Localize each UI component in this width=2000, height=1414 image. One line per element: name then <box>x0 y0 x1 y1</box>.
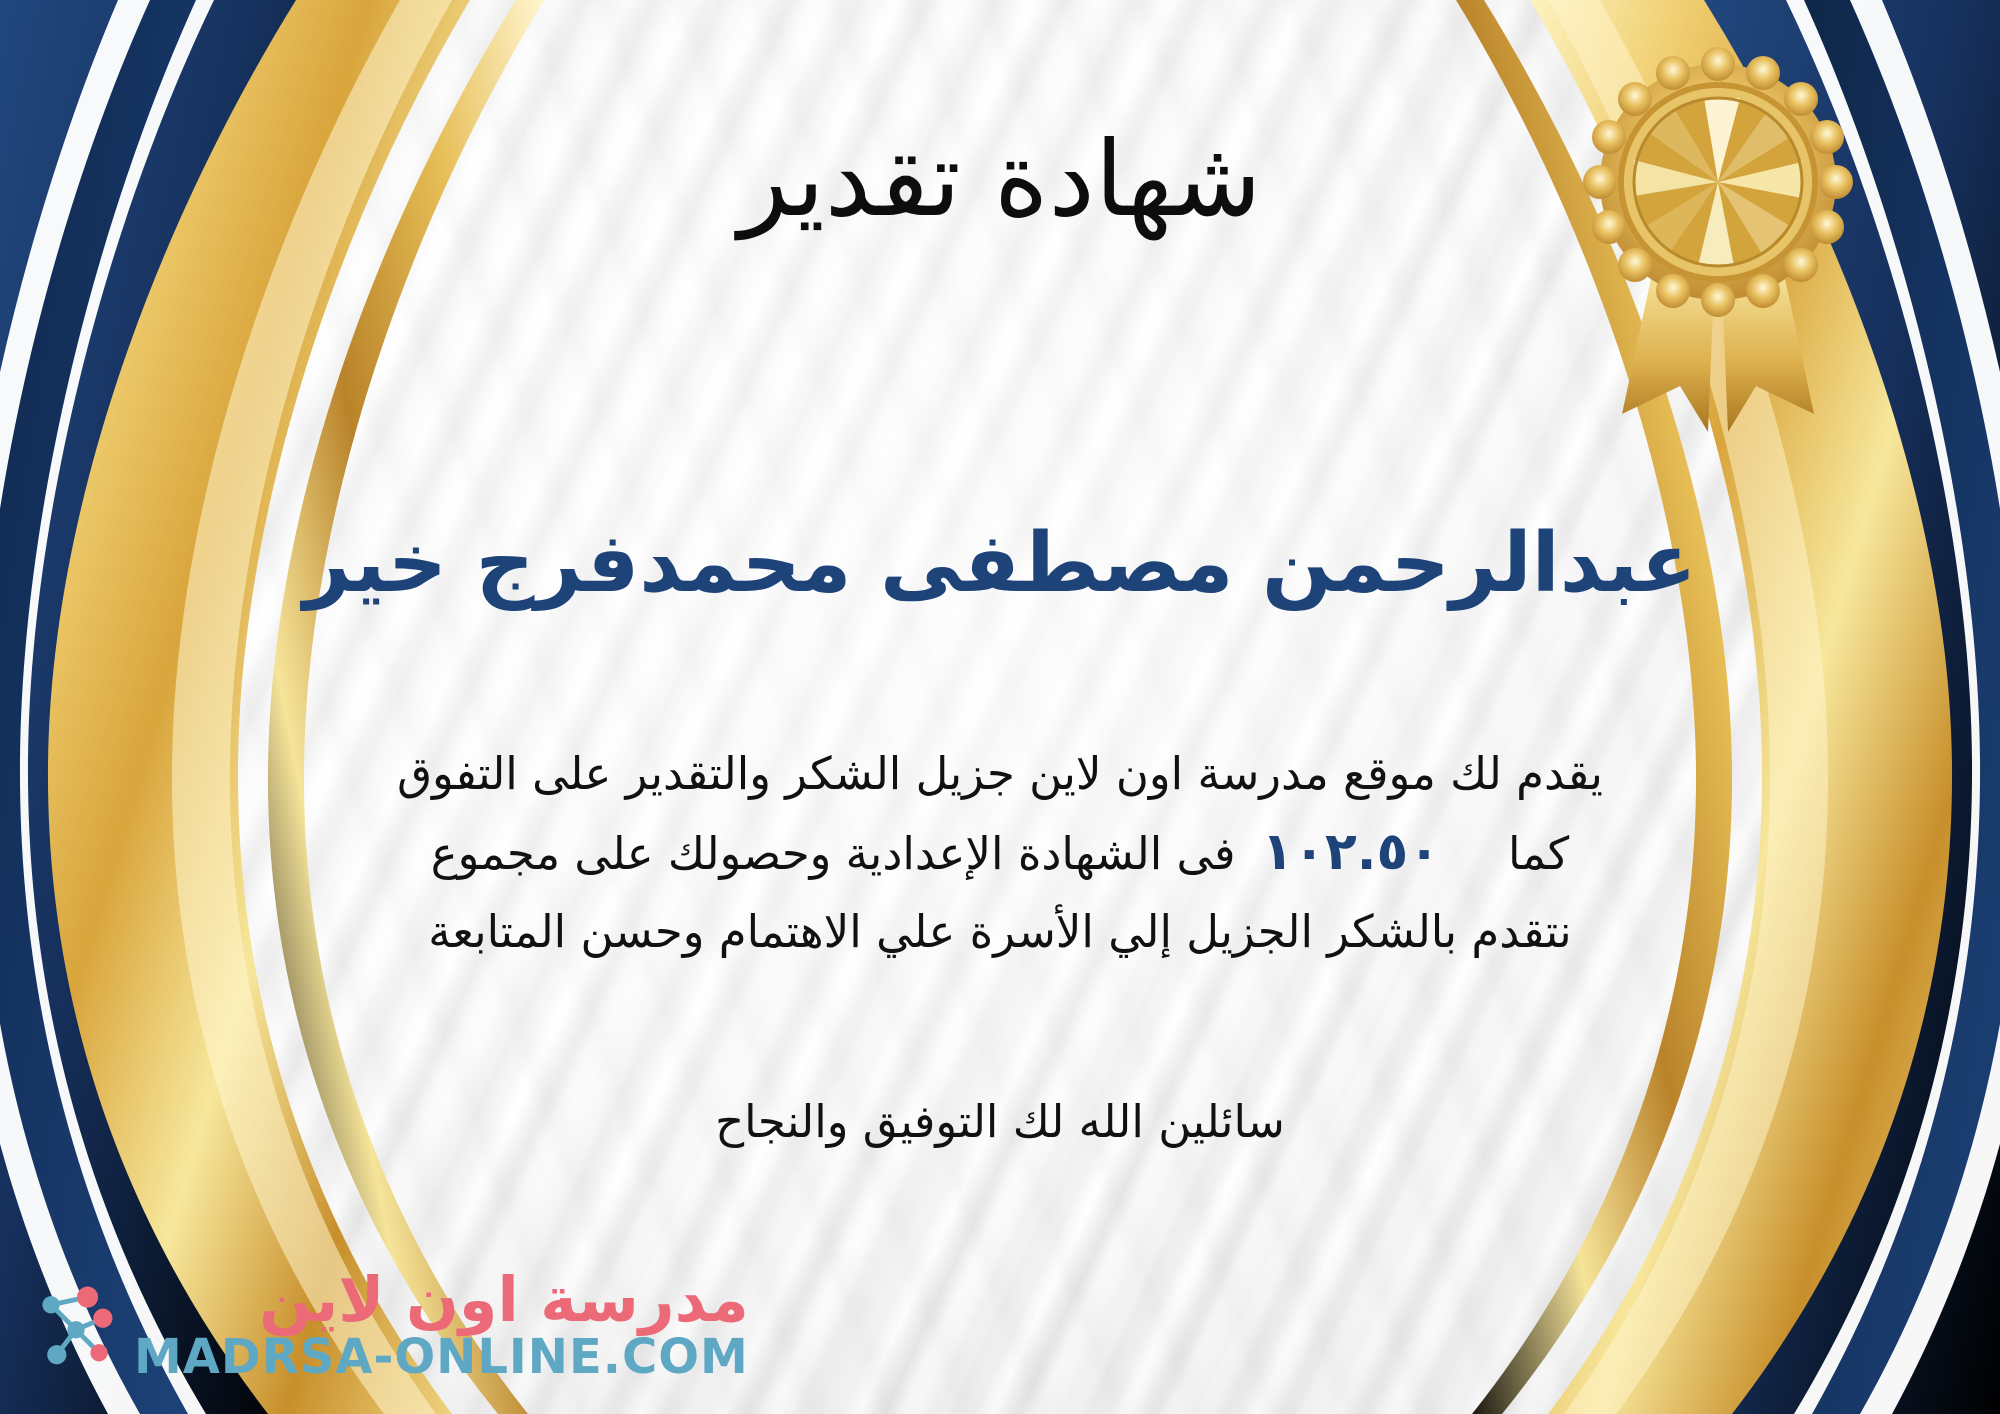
certificate-body: يقدم لك موقع مدرسة اون لاين جزيل الشكر و… <box>40 735 1960 971</box>
grade-value: ١٠٢.٥٠ <box>1236 822 1466 882</box>
network-nodes-icon <box>28 1276 124 1372</box>
body-line-2-suffix: كما <box>1508 827 1569 880</box>
body-line-2: كما١٠٢.٥٠فى الشهادة الإعدادية وحصولك على… <box>40 813 1960 893</box>
certificate-canvas: شهادة تقدير عبدالرحمن مصطفى محمدفرج خير … <box>0 0 2000 1414</box>
site-logo[interactable]: مدرسة اون لاين MADRSA-ONLINE.COM <box>28 1267 749 1382</box>
body-line-1: يقدم لك موقع مدرسة اون لاين جزيل الشكر و… <box>40 735 1960 813</box>
logo-arabic-text: مدرسة اون لاين <box>259 1267 749 1332</box>
recipient-name: عبدالرحمن مصطفى محمدفرج خير <box>0 516 2000 611</box>
closing-line: سائلين الله لك التوفيق والنجاح <box>0 1095 2000 1148</box>
body-line-3: نتقدم بالشكر الجزيل إلي الأسرة علي الاهت… <box>40 893 1960 971</box>
logo-text-group: مدرسة اون لاين MADRSA-ONLINE.COM <box>134 1267 749 1382</box>
body-line-2-prefix: فى الشهادة الإعدادية وحصولك على مجموع <box>431 827 1236 880</box>
logo-english-text: MADRSA-ONLINE.COM <box>134 1332 749 1382</box>
certificate-title: شهادة تقدير <box>0 118 2000 240</box>
